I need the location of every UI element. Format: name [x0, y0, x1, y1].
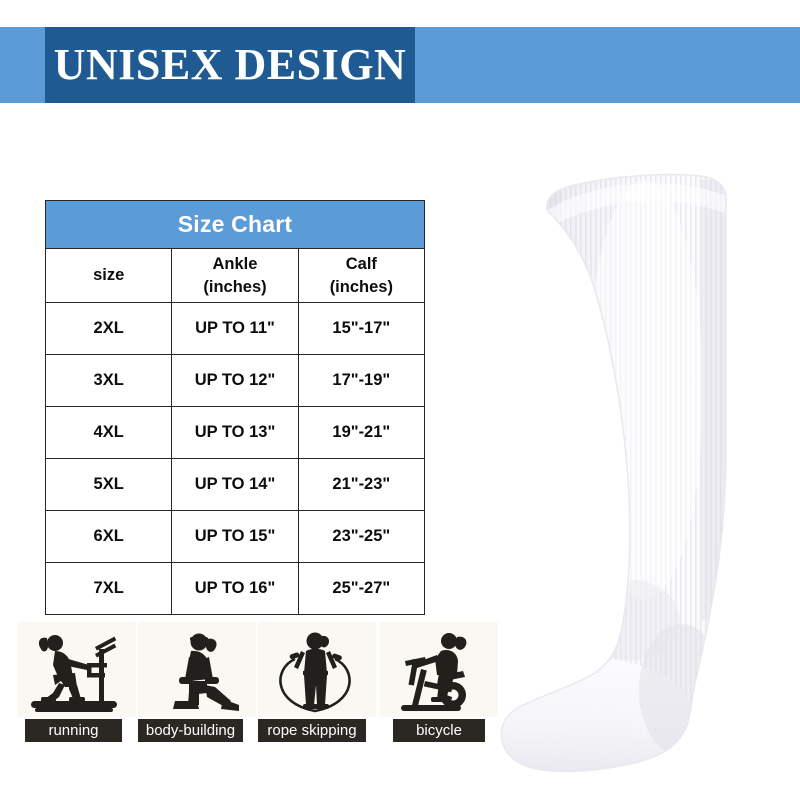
- activity-label-running: running: [25, 719, 122, 742]
- jump-rope-icon: [258, 622, 376, 717]
- size-chart-title: Size Chart: [46, 201, 425, 249]
- column-header-calf-label: Calf: [346, 255, 377, 273]
- activity-label-rope-skipping: rope skipping: [258, 719, 366, 742]
- table-row: 4XL UP TO 13" 19"-21": [46, 407, 425, 459]
- sock-body: [495, 150, 800, 790]
- cell-ankle: UP TO 13": [172, 407, 298, 459]
- cell-size: 2XL: [46, 303, 172, 355]
- table-row: 3XL UP TO 12" 17"-19": [46, 355, 425, 407]
- cell-size: 3XL: [46, 355, 172, 407]
- table-row: 2XL UP TO 11" 15"-17": [46, 303, 425, 355]
- table-row: 5XL UP TO 14" 21"-23": [46, 459, 425, 511]
- activity-item-body-building: body-building: [138, 622, 256, 747]
- cell-size: 4XL: [46, 407, 172, 459]
- cell-calf: 25"-27": [298, 563, 424, 615]
- activity-item-rope-skipping: rope skipping: [258, 622, 376, 747]
- activity-icons-row: running: [18, 622, 488, 747]
- table-row: 6XL UP TO 15" 23"-25": [46, 511, 425, 563]
- cell-ankle: UP TO 14": [172, 459, 298, 511]
- cell-calf: 15"-17": [298, 303, 424, 355]
- column-header-calf: Calf (inches): [298, 249, 424, 303]
- column-header-calf-unit: (inches): [299, 276, 424, 298]
- size-chart-title-row: Size Chart: [46, 201, 425, 249]
- cell-calf: 19"-21": [298, 407, 424, 459]
- lunge-dumbbell-icon: [138, 622, 256, 717]
- activity-item-running: running: [18, 622, 136, 747]
- column-header-ankle-label: Ankle: [213, 255, 258, 273]
- column-header-size-label: size: [93, 266, 124, 284]
- cell-ankle: UP TO 11": [172, 303, 298, 355]
- activity-item-bicycle: bicycle: [380, 622, 498, 747]
- page-title: UNISEX DESIGN: [54, 43, 406, 87]
- column-header-ankle: Ankle (inches): [172, 249, 298, 303]
- activity-label-body-building: body-building: [138, 719, 243, 742]
- exercise-bike-icon: [380, 622, 498, 717]
- cell-ankle: UP TO 15": [172, 511, 298, 563]
- column-header-size: size: [46, 249, 172, 303]
- cell-calf: 21"-23": [298, 459, 424, 511]
- cell-size: 7XL: [46, 563, 172, 615]
- cell-ankle: UP TO 12": [172, 355, 298, 407]
- cell-size: 5XL: [46, 459, 172, 511]
- cell-calf: 17"-19": [298, 355, 424, 407]
- compression-sock-photo: [495, 150, 800, 790]
- cell-calf: 23"-25": [298, 511, 424, 563]
- header-banner-inner: UNISEX DESIGN: [45, 27, 415, 103]
- header-banner: UNISEX DESIGN: [0, 27, 800, 103]
- activity-label-bicycle: bicycle: [393, 719, 485, 742]
- cell-size: 6XL: [46, 511, 172, 563]
- cell-ankle: UP TO 16": [172, 563, 298, 615]
- size-chart-table: Size Chart size Ankle (inches) Calf (inc…: [45, 200, 425, 615]
- table-row: 7XL UP TO 16" 25"-27": [46, 563, 425, 615]
- column-header-ankle-unit: (inches): [172, 276, 297, 298]
- sock-illustration: [495, 150, 800, 790]
- treadmill-runner-icon: [18, 622, 136, 717]
- size-chart-header-row: size Ankle (inches) Calf (inches): [46, 249, 425, 303]
